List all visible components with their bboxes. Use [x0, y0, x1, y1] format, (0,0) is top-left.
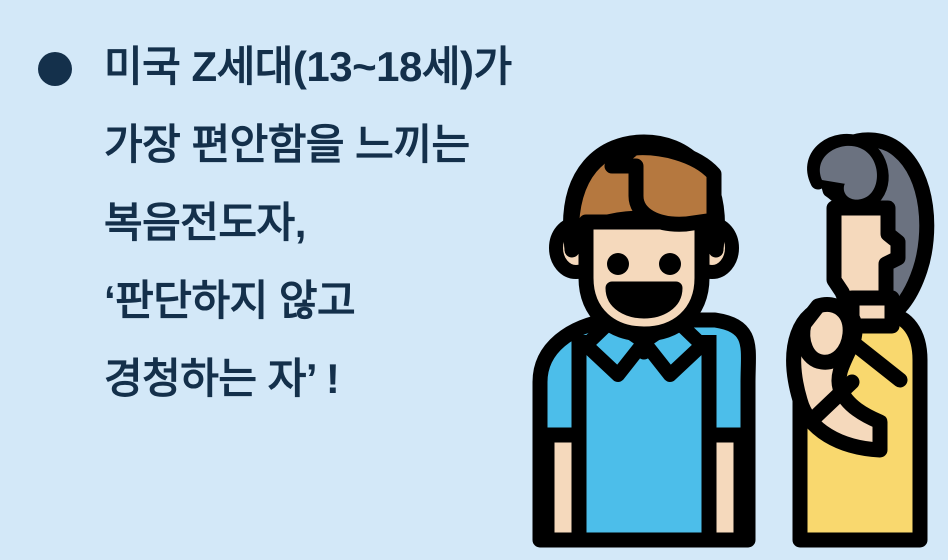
headline-line-5-text: 경청하는 자’ ! — [104, 355, 339, 402]
headline-line-3-text: 복음전도자, — [104, 199, 306, 246]
headline-line-3: 복음전도자, — [26, 184, 620, 262]
headline-line-4-text: ‘판단하지 않고 — [104, 277, 355, 324]
headline-text-block: 미국 Z세대(13~18세)가 가장 편안함을 느끼는 복음전도자, ‘판단하지… — [0, 0, 620, 560]
headline-line-4: ‘판단하지 않고 — [26, 262, 620, 340]
young-person-right-arm — [709, 435, 741, 540]
figure-older-person — [794, 140, 927, 540]
filled-circle-bullet-icon — [38, 52, 72, 86]
young-person-mouth — [612, 288, 676, 312]
headline-line-2: 가장 편안함을 느끼는 — [26, 106, 620, 184]
headline-lines: 미국 Z세대(13~18세)가 가장 편안함을 느끼는 복음전도자, ‘판단하지… — [26, 28, 620, 418]
older-person-hand — [803, 304, 850, 362]
headline-line-5: 경청하는 자’ ! — [26, 340, 620, 418]
headline-line-1: 미국 Z세대(13~18세)가 — [26, 28, 620, 106]
young-person-right-eye — [659, 253, 681, 275]
headline-line-2-text: 가장 편안함을 느끼는 — [104, 121, 470, 168]
slide-canvas: 미국 Z세대(13~18세)가 가장 편안함을 느끼는 복음전도자, ‘판단하지… — [0, 0, 948, 560]
headline-line-1-text: 미국 Z세대(13~18세)가 — [104, 43, 512, 90]
